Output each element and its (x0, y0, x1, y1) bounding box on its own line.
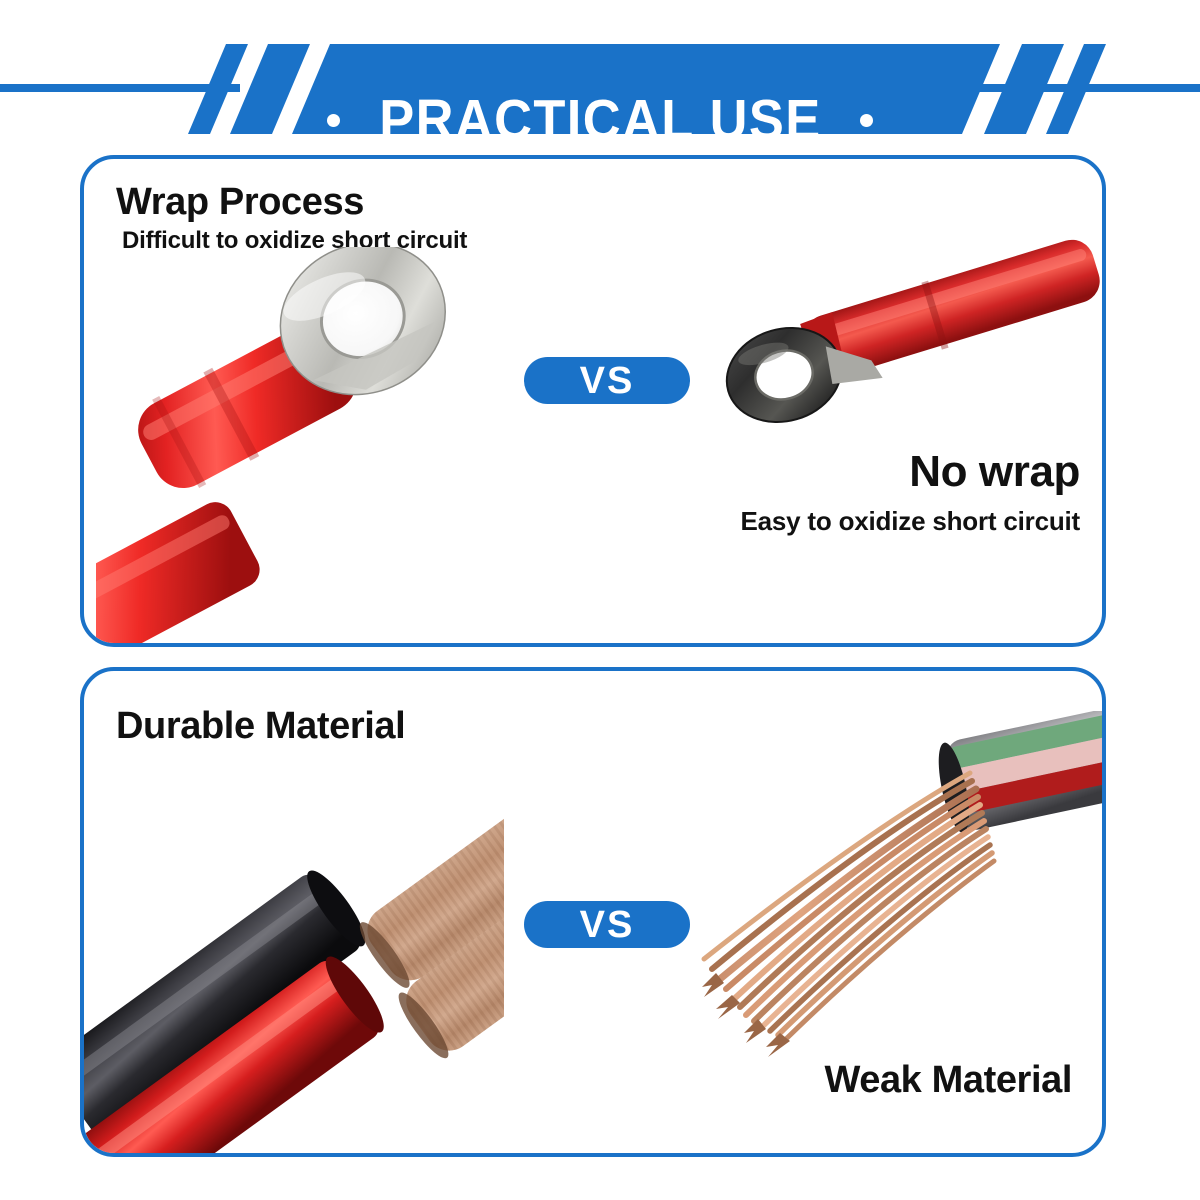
panel-wrap-process: Wrap Process Difficult to oxidize short … (80, 155, 1106, 647)
red-core (955, 758, 1106, 815)
red-cable-upper (799, 232, 1106, 387)
oxidized-ring-lug (716, 305, 887, 435)
image-weak-copper-strands (654, 711, 1106, 1083)
header-banner-block (292, 44, 1000, 134)
panel-durable-material: Durable Material (80, 667, 1106, 1157)
durable-material-title: Durable Material (116, 705, 405, 748)
header-rule-left (0, 84, 240, 92)
copper-strands-upper (353, 795, 504, 993)
vs-badge-top: VS (524, 357, 690, 404)
image-red-black-copper-cable (84, 719, 504, 1157)
red-wire-jacket (84, 950, 392, 1157)
multicore-cable-end (933, 711, 1106, 835)
vs-badge-top-label: VS (580, 362, 635, 400)
frayed-copper-strands (704, 773, 994, 1039)
black-wire-jacket (84, 864, 374, 1139)
strand-tips (702, 973, 790, 1057)
no-wrap-subtitle: Easy to oxidize short circuit (740, 506, 1080, 537)
weak-material-title: Weak Material (824, 1059, 1072, 1102)
red-shrink-sleeve (126, 310, 369, 503)
wrap-process-subtitle: Difficult to oxidize short circuit (122, 227, 467, 255)
image-red-heatshrink-ring-terminal (96, 247, 516, 647)
vs-badge-bottom: VS (524, 901, 690, 948)
copper-strands-lower (392, 865, 504, 1063)
header-banner: PRACTICAL USE (0, 30, 1200, 150)
pink-core (950, 735, 1106, 794)
wrap-process-title: Wrap Process (116, 181, 364, 224)
header-banner-shape (0, 30, 1200, 150)
image-oxidized-ring-terminal (710, 209, 1106, 459)
green-core (946, 713, 1106, 770)
infographic-page: PRACTICAL USE Wrap Process Difficult to … (0, 0, 1200, 1200)
vs-badge-bottom-label: VS (580, 906, 635, 944)
no-wrap-title: No wrap (909, 447, 1080, 497)
silver-ring-lug (256, 247, 470, 421)
